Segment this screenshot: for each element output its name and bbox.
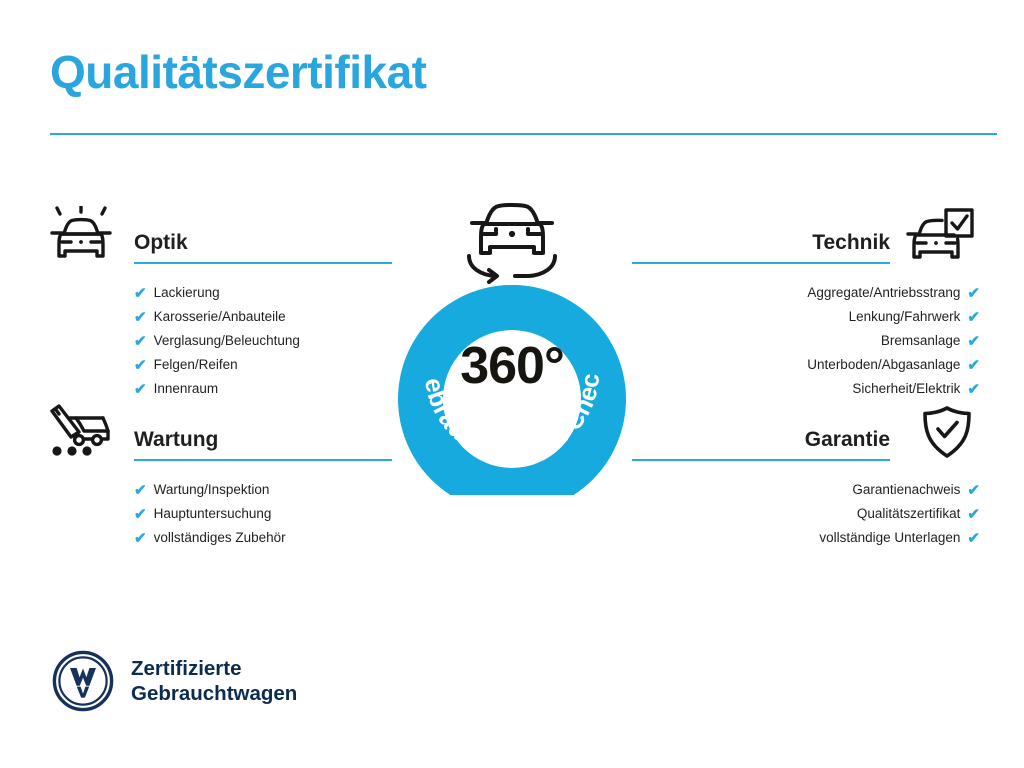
check-icon: ✔ [967, 334, 980, 349]
section-header: Technik [636, 205, 976, 267]
list-item-label: Lenkung/Fahrwerk [849, 310, 961, 324]
section-header: Wartung [48, 402, 388, 464]
section-title-wrap: Wartung [134, 402, 392, 461]
vw-logo-icon [52, 650, 114, 712]
list-item-label: Qualitätszertifikat [857, 507, 961, 521]
section-title: Wartung [134, 402, 392, 450]
list-item-label: Bremsanlage [881, 334, 961, 348]
footer-line-1: Zertifizierte [131, 656, 297, 681]
360-check-badge: Gebrauchtwagen-Check 360° [378, 196, 646, 496]
list-item-label: Verglasung/Beleuchtung [154, 334, 300, 348]
checklist-garantie: Garantienachweis ✔ Qualitätszertifikat ✔… [722, 464, 980, 550]
check-icon: ✔ [967, 382, 980, 397]
checklist-technik: Aggregate/Antriebsstrang ✔ Lenkung/Fahrw… [722, 267, 980, 401]
check-icon: ✔ [134, 334, 147, 349]
list-item: ✔ Verglasung/Beleuchtung [134, 329, 392, 353]
section-title-wrap: Optik [134, 205, 392, 264]
check-icon: ✔ [134, 483, 147, 498]
section-garantie: Garantie Garantienachweis ✔ Qualitätszer… [636, 402, 976, 550]
section-title: Garantie [632, 402, 890, 450]
service-pen-car-icon [48, 402, 124, 464]
check-icon: ✔ [967, 507, 980, 522]
list-item: ✔ vollständiges Zubehör [134, 526, 392, 550]
list-item-label: Wartung/Inspektion [154, 483, 270, 497]
checklist-wartung: ✔ Wartung/Inspektion ✔ Hauptuntersuchung… [134, 464, 392, 550]
list-item-label: Sicherheit/Elektrik [852, 382, 960, 396]
check-icon: ✔ [134, 507, 147, 522]
list-item-label: Lackierung [154, 286, 220, 300]
list-item: vollständige Unterlagen ✔ [722, 526, 980, 550]
section-divider [134, 262, 392, 264]
check-icon: ✔ [134, 310, 147, 325]
section-divider [632, 459, 890, 461]
car-checkbox-icon [900, 205, 976, 267]
list-item-label: Aggregate/Antriebsstrang [807, 286, 960, 300]
footer-line-2: Gebrauchtwagen [131, 681, 297, 706]
list-item-label: vollständiges Zubehör [154, 531, 286, 545]
section-divider [632, 262, 890, 264]
shield-check-icon [900, 402, 976, 464]
section-header: Garantie [636, 402, 976, 464]
section-title-wrap: Technik [632, 205, 890, 264]
check-icon: ✔ [967, 286, 980, 301]
footer-text: Zertifizierte Gebrauchtwagen [131, 656, 297, 706]
list-item-label: Hauptuntersuchung [154, 507, 272, 521]
section-header: Optik [48, 205, 388, 267]
section-optik: Optik ✔ Lackierung ✔ Karosserie/Anbautei… [48, 205, 388, 401]
certificate-page: Qualitätszertifikat [0, 0, 1024, 768]
list-item: ✔ Lackierung [134, 281, 392, 305]
badge-value: 360° [378, 340, 646, 392]
section-title: Optik [134, 205, 392, 253]
list-item: Sicherheit/Elektrik ✔ [722, 377, 980, 401]
section-title-wrap: Garantie [632, 402, 890, 461]
check-icon: ✔ [967, 531, 980, 546]
list-item-label: Garantienachweis [852, 483, 960, 497]
list-item: ✔ Hauptuntersuchung [134, 502, 392, 526]
list-item: ✔ Wartung/Inspektion [134, 478, 392, 502]
list-item-label: vollständige Unterlagen [819, 531, 960, 545]
list-item: ✔ Innenraum [134, 377, 392, 401]
list-item: Unterboden/Abgasanlage ✔ [722, 353, 980, 377]
header-divider [50, 133, 997, 135]
check-icon: ✔ [134, 286, 147, 301]
section-technik: Technik Aggregate/Antriebsstrang ✔ Lenku… [636, 205, 976, 401]
list-item: Bremsanlage ✔ [722, 329, 980, 353]
check-icon: ✔ [134, 358, 147, 373]
vw-certified-logo: Zertifizierte Gebrauchtwagen [52, 650, 297, 712]
list-item-label: Felgen/Reifen [154, 358, 238, 372]
list-item: Aggregate/Antriebsstrang ✔ [722, 281, 980, 305]
list-item: ✔ Karosserie/Anbauteile [134, 305, 392, 329]
list-item: Lenkung/Fahrwerk ✔ [722, 305, 980, 329]
check-icon: ✔ [134, 382, 147, 397]
section-divider [134, 459, 392, 461]
list-item: Garantienachweis ✔ [722, 478, 980, 502]
list-item: ✔ Felgen/Reifen [134, 353, 392, 377]
page-title: Qualitätszertifikat [50, 48, 427, 96]
list-item-label: Innenraum [154, 382, 219, 396]
section-title: Technik [632, 205, 890, 253]
list-item: Qualitätszertifikat ✔ [722, 502, 980, 526]
check-icon: ✔ [967, 483, 980, 498]
check-icon: ✔ [967, 310, 980, 325]
checklist-optik: ✔ Lackierung ✔ Karosserie/Anbauteile ✔ V… [134, 267, 392, 401]
check-icon: ✔ [967, 358, 980, 373]
list-item-label: Unterboden/Abgasanlage [807, 358, 960, 372]
car-shine-icon [48, 205, 124, 267]
list-item-label: Karosserie/Anbauteile [154, 310, 286, 324]
section-wartung: Wartung ✔ Wartung/Inspektion ✔ Hauptunte… [48, 402, 388, 550]
check-icon: ✔ [134, 531, 147, 546]
